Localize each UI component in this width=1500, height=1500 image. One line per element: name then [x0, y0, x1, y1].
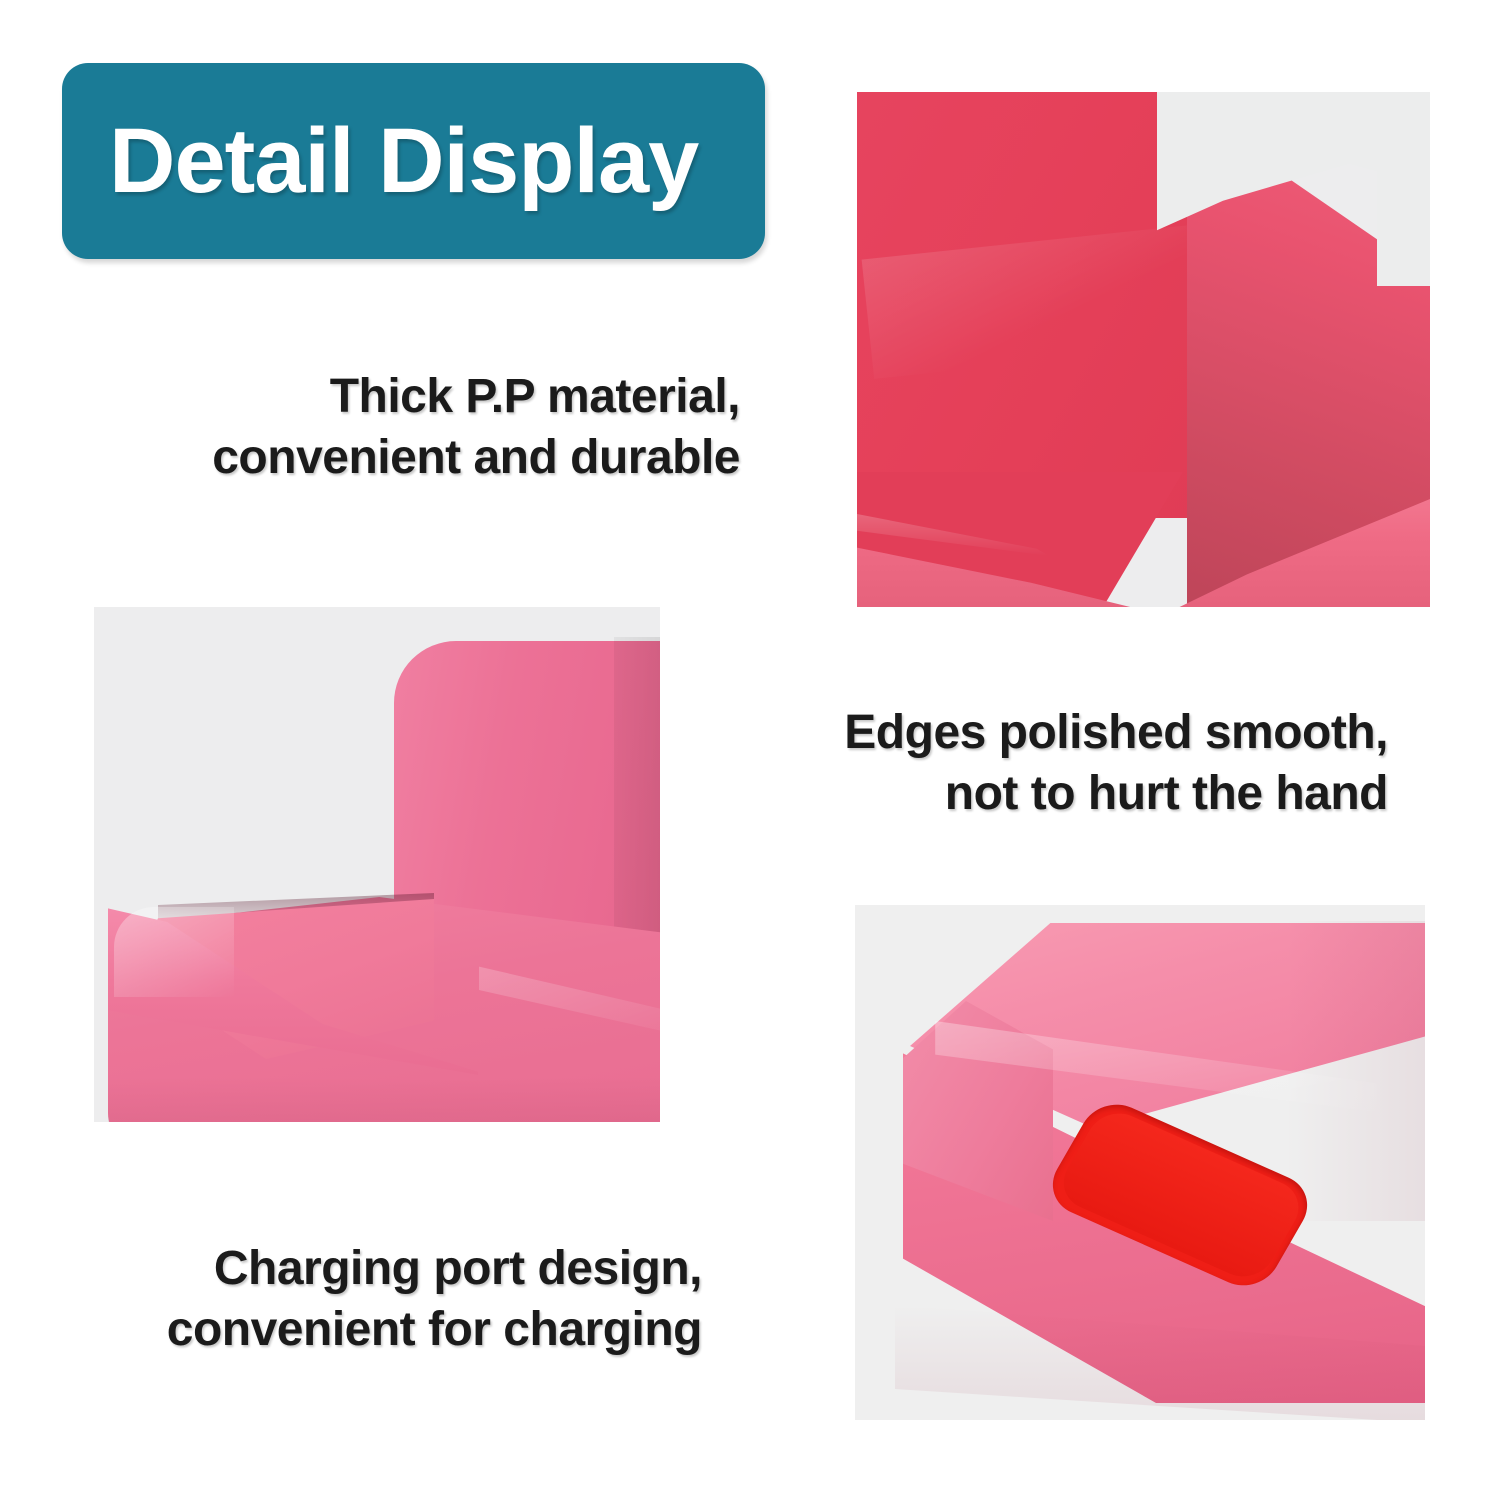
corner-edge-highlight — [114, 907, 234, 997]
caption-thick-pp-material: Thick P.P material, convenient and durab… — [140, 366, 740, 489]
caption-line-2: not to hurt the hand — [818, 763, 1388, 824]
caption-line-2: convenient for charging — [96, 1299, 702, 1360]
caption-line-1: Charging port design, — [96, 1238, 702, 1299]
base-shadow — [108, 1077, 660, 1122]
caption-line-1: Edges polished smooth, — [818, 702, 1388, 763]
right-side-shading — [1285, 921, 1425, 1221]
header-banner: Detail Display — [62, 63, 765, 259]
detail-display-page: Detail Display T — [0, 0, 1500, 1500]
photo-product-interior-closeup — [857, 92, 1430, 607]
caption-charging-port: Charging port design, convenient for cha… — [96, 1238, 702, 1361]
caption-edges-polished: Edges polished smooth, not to hurt the h… — [818, 702, 1388, 825]
photo-backdrop-strip — [1377, 92, 1430, 286]
caption-line-1: Thick P.P material, — [140, 366, 740, 427]
caption-line-2: convenient and durable — [140, 427, 740, 488]
photo-product-charging-port — [855, 905, 1425, 1420]
page-title: Detail Display — [109, 115, 698, 207]
back-panel-edge-shading — [614, 637, 660, 977]
photo-product-side-profile — [94, 607, 660, 1122]
